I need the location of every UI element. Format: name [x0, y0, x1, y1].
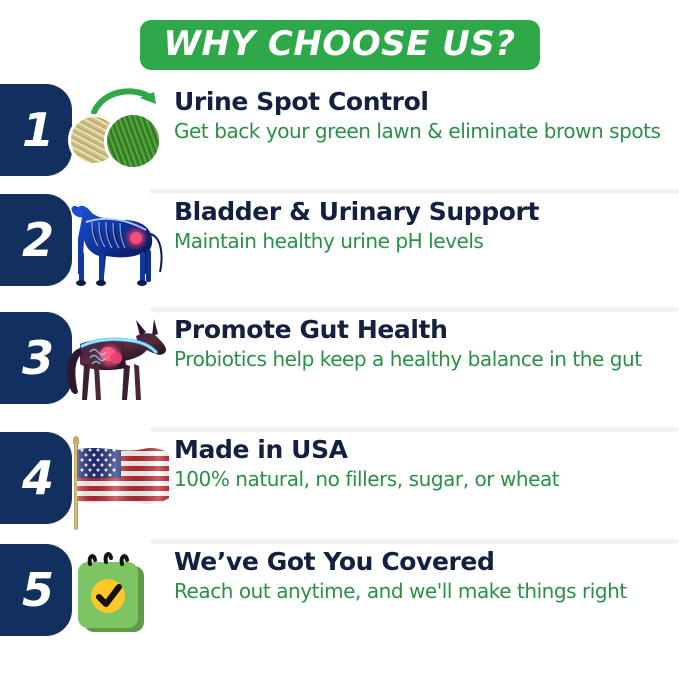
benefit-row: 4	[0, 432, 679, 544]
calendar-illustration	[68, 550, 156, 640]
dog-gut-illustration	[62, 314, 170, 414]
page-title: WHY CHOOSE US?	[164, 27, 516, 61]
dog-xray-bladder-icon	[60, 194, 172, 294]
benefit-number: 1	[22, 107, 54, 153]
benefit-title: Urine Spot Control	[174, 88, 675, 116]
usa-flag-icon	[60, 432, 172, 532]
benefit-text-block: Urine Spot Control Get back your green l…	[172, 84, 679, 143]
benefit-subtitle: Reach out anytime, and we'll make things…	[174, 579, 675, 603]
benefit-text-block: Promote Gut Health Probiotics help keep …	[172, 312, 679, 371]
benefit-subtitle: Get back your green lawn & eliminate bro…	[174, 119, 675, 143]
benefit-title: Made in USA	[174, 436, 675, 464]
benefit-text-block: We’ve Got You Covered Reach out anytime,…	[172, 544, 679, 603]
benefits-list: 1 Urine Spot Control Get back your green…	[0, 84, 679, 656]
benefit-subtitle: 100% natural, no fillers, sugar, or whea…	[174, 467, 675, 491]
benefit-number: 2	[22, 217, 54, 263]
lawn-before-after-icon	[60, 84, 172, 184]
calendar-check-icon	[60, 544, 172, 644]
header-banner-container: WHY CHOOSE US?	[0, 14, 679, 76]
benefit-row: 3	[0, 312, 679, 432]
dog-xray-illustration	[62, 196, 170, 292]
benefit-number: 5	[22, 567, 54, 613]
header-banner: WHY CHOOSE US?	[140, 20, 540, 70]
benefit-title: We’ve Got You Covered	[174, 548, 675, 576]
benefit-row: 2	[0, 194, 679, 312]
benefit-number: 3	[22, 335, 54, 381]
benefit-number: 4	[22, 455, 54, 501]
infographic-page: WHY CHOOSE US? 1 Urine Spot Cont	[0, 0, 679, 679]
benefit-row: 5	[0, 544, 679, 656]
benefit-title: Bladder & Urinary Support	[174, 198, 675, 226]
benefit-title: Promote Gut Health	[174, 316, 675, 344]
benefit-text-block: Made in USA 100% natural, no fillers, su…	[172, 432, 679, 491]
dog-gut-health-icon	[60, 312, 172, 412]
benefit-text-block: Bladder & Urinary Support Maintain healt…	[172, 194, 679, 253]
benefit-row: 1 Urine Spot Control Get back your green…	[0, 84, 679, 194]
usa-flag-illustration	[77, 446, 173, 512]
benefit-subtitle: Maintain healthy urine pH levels	[174, 229, 675, 253]
calendar-group	[68, 550, 156, 645]
benefit-subtitle: Probiotics help keep a healthy balance i…	[174, 347, 675, 371]
green-lawn-circle	[104, 112, 162, 170]
